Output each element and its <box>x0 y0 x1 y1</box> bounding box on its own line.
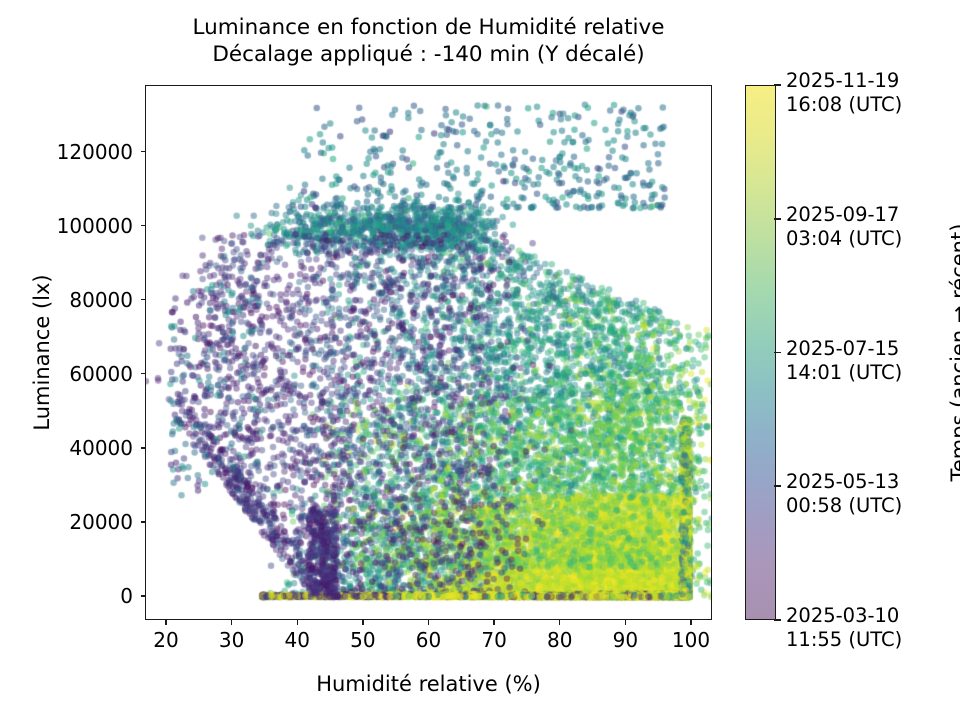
colorbar-tick-label: 2025-11-1916:08 (UTC) <box>786 69 902 117</box>
chart-title: Luminance en fonction de Humidité relati… <box>145 14 712 41</box>
colorbar-tick-label: 2025-09-1703:04 (UTC) <box>786 203 902 251</box>
x-tick-label: 50 <box>350 628 375 652</box>
colorbar-tick-label: 2025-05-1300:58 (UTC) <box>786 470 902 518</box>
chart-subtitle: Décalage appliqué : -140 min (Y décalé) <box>145 41 712 68</box>
colorbar-gradient <box>746 86 775 619</box>
y-tick-mark <box>141 595 146 596</box>
y-tick-label: 0 <box>0 584 133 608</box>
y-tick-label: 20000 <box>0 510 133 534</box>
x-tick-mark <box>165 620 166 625</box>
colorbar-tick-time: 00:58 (UTC) <box>786 494 902 518</box>
colorbar-tick-time: 16:08 (UTC) <box>786 93 902 117</box>
y-tick-mark <box>141 447 146 448</box>
colorbar-tick-mark <box>774 485 781 487</box>
colorbar-label: Temps (ancien → récent) <box>947 85 960 620</box>
colorbar-tick-time: 03:04 (UTC) <box>786 227 902 251</box>
colorbar-tick-label: 2025-07-1514:01 (UTC) <box>786 337 902 385</box>
x-tick-mark <box>297 620 298 625</box>
x-tick-label: 90 <box>613 628 638 652</box>
x-tick-label: 100 <box>672 628 710 652</box>
x-axis-label: Humidité relative (%) <box>145 672 712 696</box>
figure-root: Luminance en fonction de Humidité relati… <box>0 0 960 720</box>
colorbar-tick-date: 2025-03-10 <box>786 604 902 628</box>
x-tick-label: 60 <box>416 628 441 652</box>
colorbar-tick-date: 2025-09-17 <box>786 203 902 227</box>
y-tick-label: 60000 <box>0 362 133 386</box>
x-tick-mark <box>559 620 560 625</box>
y-tick-mark <box>141 225 146 226</box>
colorbar-tick-time: 11:55 (UTC) <box>786 628 902 652</box>
y-tick-mark <box>141 151 146 152</box>
colorbar-tick-time: 14:01 (UTC) <box>786 361 902 385</box>
colorbar-tick-mark <box>774 84 781 86</box>
scatter-points-layer <box>146 86 712 620</box>
colorbar-tick-mark <box>774 619 781 621</box>
x-tick-label: 40 <box>285 628 310 652</box>
x-tick-label: 80 <box>547 628 572 652</box>
colorbar-tick-mark <box>774 352 781 354</box>
y-tick-label: 120000 <box>0 140 133 164</box>
x-tick-mark <box>690 620 691 625</box>
x-tick-label: 20 <box>153 628 178 652</box>
y-tick-label: 40000 <box>0 436 133 460</box>
y-tick-mark <box>141 299 146 300</box>
colorbar-tick-date: 2025-11-19 <box>786 69 902 93</box>
y-axis-label: Luminance (lx) <box>30 85 54 620</box>
y-tick-mark <box>141 521 146 522</box>
x-tick-mark <box>625 620 626 625</box>
x-tick-label: 70 <box>481 628 506 652</box>
x-tick-mark <box>362 620 363 625</box>
plot-area <box>145 85 712 620</box>
colorbar <box>745 85 776 620</box>
y-tick-mark <box>141 373 146 374</box>
chart-title-block: Luminance en fonction de Humidité relati… <box>145 14 712 68</box>
colorbar-tick-label: 2025-03-1011:55 (UTC) <box>786 604 902 652</box>
y-tick-label: 100000 <box>0 214 133 238</box>
colorbar-tick-mark <box>774 218 781 220</box>
colorbar-tick-date: 2025-07-15 <box>786 337 902 361</box>
x-tick-mark <box>428 620 429 625</box>
x-tick-mark <box>493 620 494 625</box>
x-tick-mark <box>231 620 232 625</box>
x-tick-label: 30 <box>219 628 244 652</box>
y-tick-label: 80000 <box>0 288 133 312</box>
colorbar-tick-date: 2025-05-13 <box>786 470 902 494</box>
